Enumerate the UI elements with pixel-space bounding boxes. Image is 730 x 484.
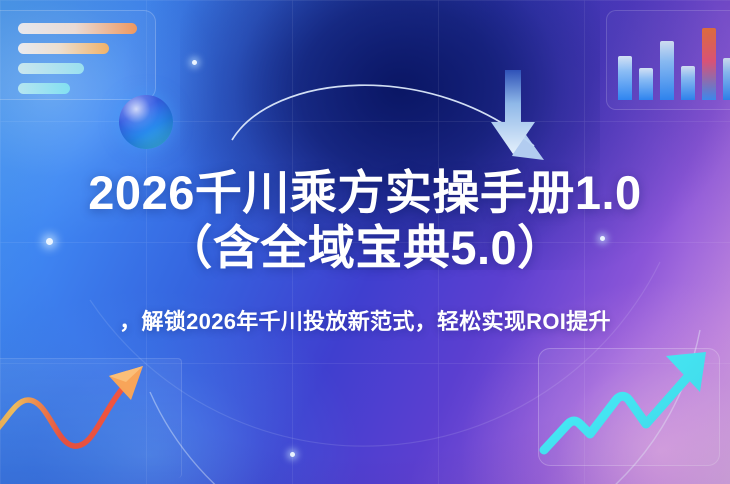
title-block: 2026千川乘方实操手册1.0 （含全域宝典5.0） xyxy=(0,168,730,274)
bar-chart-bar xyxy=(618,56,632,100)
bar-chart-bar xyxy=(723,58,730,100)
rising-zigzag-arrow xyxy=(520,334,730,484)
poster-banner: 2026千川乘方实操手册1.0 （含全域宝典5.0） ，解锁2026年千川投放新… xyxy=(0,0,730,484)
line-chart-svg xyxy=(0,348,206,484)
zigzag-arrow-svg xyxy=(520,334,730,484)
bar-chart-bars xyxy=(618,24,730,100)
glossy-sphere xyxy=(119,95,173,149)
stat-bar-orange-short xyxy=(18,43,109,54)
bar-chart-bar xyxy=(702,28,716,100)
bar-chart-bar xyxy=(681,66,695,100)
stat-bar-orange-long xyxy=(18,23,137,34)
stat-bar-cyan-short xyxy=(18,83,70,94)
page-subtitle: ，解锁2026年千川投放新范式，轻松实现ROI提升 xyxy=(0,304,730,336)
bar-chart-bar xyxy=(639,68,653,100)
down-arrow-icon xyxy=(487,68,539,164)
page-title-line-2: （含全域宝典5.0） xyxy=(0,223,730,274)
page-title-line-1: 2026千川乘方实操手册1.0 xyxy=(0,168,730,219)
stat-bars-group xyxy=(18,23,168,103)
stat-bar-cyan-mid xyxy=(18,63,84,74)
bar-chart-bar xyxy=(660,41,674,100)
rising-line-chart xyxy=(0,348,206,484)
